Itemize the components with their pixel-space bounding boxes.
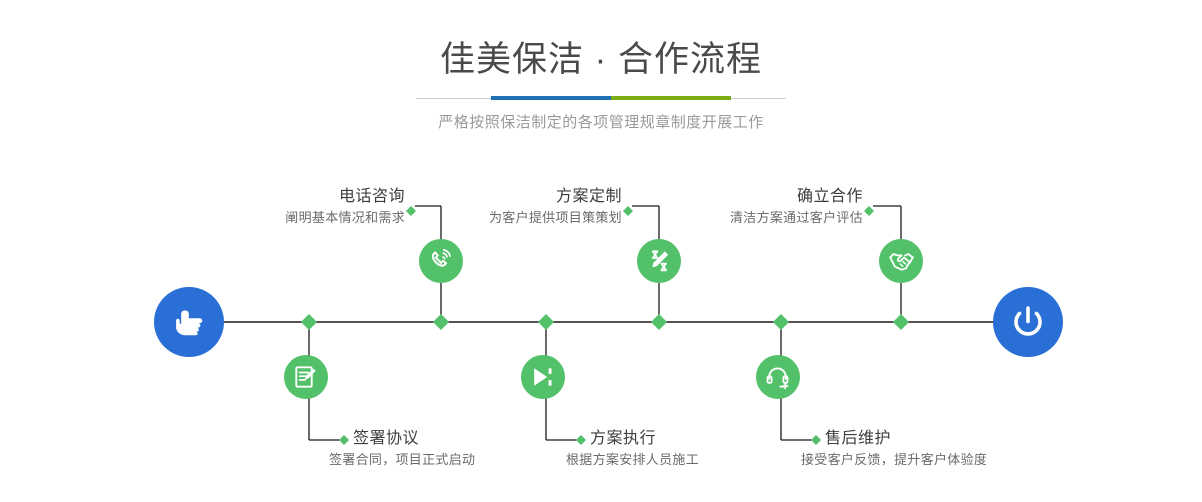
timeline-diamond-5	[773, 314, 789, 330]
step-desc-6: 接受客户反馈，提升客户体验度	[801, 450, 987, 470]
label-diamond-markers	[339, 206, 874, 445]
process-flow-diagram: 电话咨询 阐明基本情况和需求 方案定制 为客户提供项目策策划 确立合作 清洁方案…	[0, 0, 1202, 502]
step-label-5: 确立合作 清洁方案通过客户评估	[620, 186, 863, 228]
step-icon-2[interactable]	[284, 355, 328, 399]
step-icon-1[interactable]	[419, 239, 463, 283]
step-label-2: 签署协议 签署合同，项目正式启动	[353, 428, 475, 470]
step-icon-4[interactable]	[521, 355, 565, 399]
step-title-2: 签署协议	[353, 428, 475, 450]
timeline-diamond-3	[538, 314, 554, 330]
step-label-3: 方案定制 为客户提供项目策策划	[380, 186, 622, 228]
timeline-diamond-1	[301, 314, 317, 330]
document-sign-icon	[293, 364, 319, 390]
headset-support-icon	[765, 364, 792, 391]
flow-connectors	[0, 0, 1202, 502]
flow-chart-page: 佳美保洁 · 合作流程 严格按照保洁制定的各项管理规章制度开展工作	[0, 0, 1202, 502]
timeline-diamond-2	[433, 314, 449, 330]
step-title-6: 售后维护	[825, 428, 987, 450]
timeline-diamond-6	[893, 314, 909, 330]
label-diamond-step-4	[576, 435, 586, 445]
step-label-6: 售后维护 接受客户反馈，提升客户体验度	[825, 428, 987, 470]
step-desc-2: 签署合同，项目正式启动	[329, 450, 475, 470]
pointing-hand-icon	[169, 302, 209, 342]
label-diamond-step-6	[811, 435, 821, 445]
timeline-diamond-4	[651, 314, 667, 330]
play-execute-icon	[530, 364, 556, 390]
step-title-3: 方案定制	[380, 186, 622, 208]
label-diamond-step-2	[339, 435, 349, 445]
step-title-5: 确立合作	[620, 186, 863, 208]
step-label-4: 方案执行 根据方案安排人员施工	[590, 428, 699, 470]
step-title-4: 方案执行	[590, 428, 699, 450]
step-icon-3[interactable]	[637, 239, 681, 283]
step-title-1: 电话咨询	[160, 186, 405, 208]
step-desc-3: 为客户提供项目策策划	[380, 208, 622, 228]
step-desc-1: 阐明基本情况和需求	[160, 208, 405, 228]
label-diamond-step-5	[864, 206, 874, 216]
phone-call-icon	[428, 248, 454, 274]
flow-end-endpoint[interactable]	[993, 287, 1063, 357]
step-icon-6[interactable]	[756, 355, 800, 399]
handshake-icon	[888, 248, 915, 275]
flow-start-endpoint[interactable]	[154, 287, 224, 357]
step-desc-5: 清洁方案通过客户评估	[620, 208, 863, 228]
step-icon-5[interactable]	[879, 239, 923, 283]
step-label-1: 电话咨询 阐明基本情况和需求	[160, 186, 405, 228]
pencil-design-icon	[646, 248, 672, 274]
power-button-icon	[1007, 301, 1049, 343]
step-desc-4: 根据方案安排人员施工	[566, 450, 699, 470]
